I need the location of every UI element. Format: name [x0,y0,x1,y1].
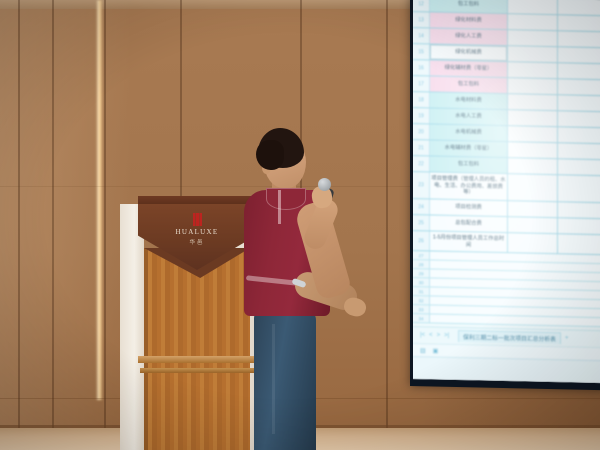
row-header[interactable]: 30 [413,278,430,286]
value-cell[interactable] [558,79,600,95]
row-header[interactable]: 27 [413,251,430,259]
cost-item-cell[interactable]: 水电材料费 [430,92,508,109]
value-cell[interactable] [558,127,600,143]
row-header[interactable]: 31 [413,287,430,295]
last-sheet-icon[interactable]: >| [444,333,449,339]
ready-icon: ▤ [420,347,426,354]
cost-item-cell[interactable]: 1-5月份项目管理人员工作总时间 [430,231,508,252]
value-cell[interactable] [558,111,600,127]
table-row[interactable]: 261-5月份项目管理人员工作总时间 [413,231,600,255]
value-cell[interactable] [558,175,600,202]
sheet-tab-active[interactable]: 保利三期二标一批次项目汇总分析表 [458,330,561,344]
cost-item-cell[interactable]: 绿化机械费 [430,44,508,61]
first-sheet-icon[interactable]: |< [420,332,425,338]
value-cell[interactable] [508,78,558,94]
presenter-jeans-fold [272,324,275,434]
value-cell[interactable] [558,143,600,159]
wall-panel-seam [52,0,54,450]
value-cell[interactable] [508,217,558,233]
presenter-jeans [254,310,316,450]
cost-item-cell[interactable]: 项目管理费（管理人员的租、水电、生活、办公费用、差旅费等） [430,172,508,200]
row-header[interactable]: 29 [413,269,430,277]
value-cell[interactable] [508,46,558,62]
row-header[interactable]: 32 [413,296,430,304]
table-row[interactable]: 23项目管理费（管理人员的租、水电、生活、办公费用、差旅费等） [413,172,600,203]
value-cell[interactable] [558,31,600,47]
row-header[interactable]: 21 [413,140,430,155]
value-cell[interactable] [508,14,558,30]
cost-item-cell[interactable]: 包工包料 [430,0,508,13]
prev-sheet-icon[interactable]: < [429,332,433,338]
spreadsheet-app: 12包工包料13绿化材料费14绿化人工费15绿化机械费16绿化辅材费（零星）17… [413,0,600,383]
cost-item-cell[interactable]: 绿化人工费 [430,28,508,45]
cost-item-cell[interactable]: 水电辅材费（零星） [430,140,508,157]
cost-item-cell[interactable]: 绿化辅材费（零星） [430,60,508,77]
value-cell[interactable] [508,62,558,78]
presenter-hair-back [256,140,284,170]
wall-panel-seam [104,0,106,450]
podium-brand-name: HUALUXE [176,228,219,236]
row-header[interactable]: 16 [413,60,430,75]
value-cell[interactable] [508,174,558,201]
value-cell[interactable] [508,142,558,158]
cost-item-cell[interactable]: 包工包料 [430,156,508,173]
value-cell[interactable] [558,15,600,31]
cost-item-cell[interactable]: 水电人工费 [430,108,508,125]
hualuxe-logo-icon [193,213,202,226]
row-header[interactable]: 18 [413,92,430,107]
value-cell[interactable] [508,94,558,110]
value-cell[interactable] [508,233,558,253]
row-header[interactable]: 17 [413,76,430,91]
spreadsheet-grid: 12包工包料13绿化材料费14绿化人工费15绿化机械费16绿化辅材费（零星）17… [413,0,600,330]
row-header[interactable]: 20 [413,124,430,139]
presenter-shirt-placket [278,190,281,224]
row-header[interactable]: 14 [413,28,430,43]
value-cell[interactable] [508,126,558,142]
microphone-icon [318,178,331,191]
value-cell[interactable] [508,110,558,126]
row-header[interactable]: 33 [413,305,430,313]
cost-item-cell[interactable]: 总包配合费 [430,215,508,232]
row-header[interactable]: 19 [413,108,430,123]
row-header[interactable]: 26 [413,231,430,250]
wall-light-strip [96,0,103,400]
projected-image: 12包工包料13绿化材料费14绿化人工费15绿化机械费16绿化辅材费（零星）17… [413,0,600,383]
row-header[interactable]: 24 [413,199,430,214]
value-cell[interactable] [508,201,558,217]
presenter-left-hand [342,295,368,318]
presenter-collar [266,188,306,210]
value-cell[interactable] [558,47,600,63]
row-header[interactable]: 25 [413,215,430,230]
podium-brand-name-cn: 华邑 [189,238,204,246]
cost-item-cell[interactable]: 项目检测费 [430,199,508,216]
value-cell[interactable] [508,30,558,46]
projection-screen: 12包工包料13绿化材料费14绿化人工费15绿化机械费16绿化辅材费（零星）17… [410,0,600,390]
presenter [232,128,372,450]
cost-item-cell[interactable]: 绿化材料费 [430,12,508,29]
screenshot-root: 12包工包料13绿化材料费14绿化人工费15绿化机械费16绿化辅材费（零星）17… [0,0,600,450]
cost-item-cell[interactable]: 包工包料 [430,76,508,93]
cost-item-cell[interactable]: 水电机械费 [430,124,508,141]
row-header[interactable]: 34 [413,314,430,322]
row-header[interactable]: 12 [413,0,430,11]
value-cell[interactable] [508,0,558,14]
page-layout-icon: ▣ [433,347,439,354]
wall-panel-seam [386,0,388,450]
add-sheet-icon[interactable]: + [565,335,569,341]
value-cell[interactable] [558,0,600,15]
value-cell[interactable] [508,158,558,174]
sheet-nav-buttons[interactable]: |< < > >| [420,332,449,339]
row-header[interactable]: 22 [413,156,430,171]
row-header[interactable]: 15 [413,44,430,59]
row-header[interactable]: 28 [413,260,430,268]
value-cell[interactable] [558,63,600,79]
row-header[interactable]: 23 [413,172,430,198]
value-cell[interactable] [558,234,600,254]
next-sheet-icon[interactable]: > [437,333,441,339]
value-cell[interactable] [558,159,600,175]
row-header[interactable]: 13 [413,12,430,27]
projection-screen-frame: 12包工包料13绿化材料费14绿化人工费15绿化机械费16绿化辅材费（零星）17… [410,0,600,390]
wall-panel-seam [18,0,20,450]
below-sheet-area [413,356,600,383]
value-cell[interactable] [558,95,600,111]
value-cell[interactable] [558,218,600,234]
value-cell[interactable] [558,202,600,218]
